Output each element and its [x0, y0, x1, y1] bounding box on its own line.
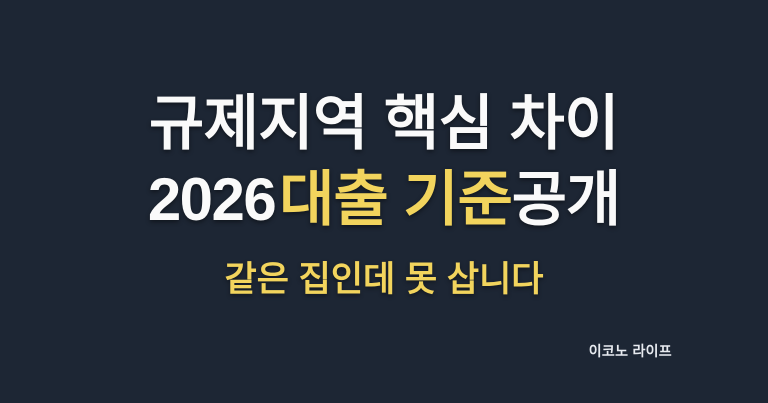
headline-line-1: 규제지역 핵심 차이: [0, 86, 768, 162]
headline-block: 규제지역 핵심 차이 2026대출 기준공개: [0, 86, 768, 238]
headline-accent-phrase: 대출 기준: [279, 166, 511, 233]
subtitle: 같은 집인데 못 삽니다: [0, 258, 768, 302]
headline-tail-phrase: 공개: [512, 166, 620, 233]
headline-line-2: 2026대출 기준공개: [0, 162, 768, 238]
brand-watermark: 이코노 라이프: [589, 342, 672, 360]
headline-year: 2026: [148, 166, 279, 233]
thumbnail-card: 규제지역 핵심 차이 2026대출 기준공개 같은 집인데 못 삽니다 이코노 …: [0, 0, 768, 403]
